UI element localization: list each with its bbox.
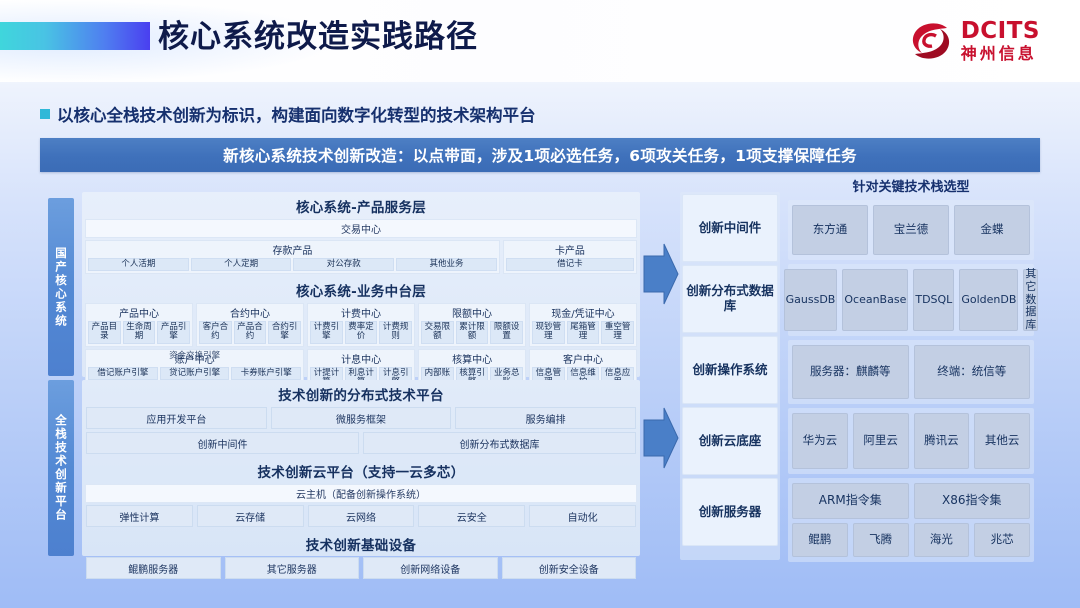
cloud-item: 弹性计算	[86, 505, 193, 527]
product-item: 对公存款	[293, 258, 394, 271]
stack-cloud-group: 华为云 阿里云 腾讯云 其他云	[788, 408, 1034, 474]
product-item: 借记卡	[506, 258, 634, 271]
center-item: 合约引擎	[268, 321, 301, 343]
vendor-item[interactable]: 东方通	[792, 205, 868, 255]
cloud-item: 云网络	[308, 505, 415, 527]
platform-item: 创新中间件	[86, 432, 359, 454]
business-row-1: 产品中心 产品目录 生命周期 产品引擎 合约中心 客户合约 产品合约 合约引擎	[82, 303, 640, 348]
core-system-panel: 核心系统-产品服务层 交易中心 存款产品 个人活期 个人定期 对公存款 其他业务…	[82, 192, 640, 377]
cloud-platform-title: 技术创新云平台（支持一云多芯）	[82, 457, 640, 484]
chip-item[interactable]: 鲲鹏	[792, 523, 848, 557]
product-item: 其他业务	[396, 258, 497, 271]
chip-row: 鲲鹏 飞腾 海光 兆芯	[792, 523, 1030, 557]
chip-item[interactable]: 飞腾	[853, 523, 909, 557]
dcits-logo: DCITS 神州信息	[909, 18, 1040, 64]
cloud-item: 云存储	[197, 505, 304, 527]
vendor-item[interactable]: GoldenDB	[959, 269, 1018, 331]
stack-database-group: GaussDB OceanBase TDSQL GoldenDB 其它数据库	[788, 264, 1034, 336]
vendor-item[interactable]: 其他云	[974, 413, 1030, 469]
slide-header: 核心系统改造实践路径 DCITS 神州信息	[0, 0, 1080, 82]
center-item: 重空管理	[601, 321, 634, 343]
distributed-row-1: 应用开发平台 微服务框架 服务编排	[82, 407, 640, 432]
group-title: 卡产品	[504, 241, 636, 258]
vendor-item[interactable]: 宝兰德	[873, 205, 949, 255]
center-item: 计费引擎	[310, 321, 343, 343]
product-group-deposit: 存款产品 个人活期 个人定期 对公存款 其他业务	[85, 240, 500, 274]
center-title: 合约中心	[197, 304, 303, 321]
center-title: 产品中心	[86, 304, 192, 321]
tech-stack-column: 针对关键技术栈选型 东方通 宝兰德 金蝶 GaussDB OceanBase T…	[788, 176, 1034, 556]
isa-row: ARM指令集 X86指令集	[792, 483, 1030, 519]
platform-item: 服务编排	[455, 407, 636, 429]
product-groups-row: 存款产品 个人活期 个人定期 对公存款 其他业务 卡产品 借记卡	[82, 240, 640, 276]
arrow-right-icon-bottom	[642, 406, 680, 470]
infra-item: 创新网络设备	[363, 557, 498, 579]
infra-item: 创新安全设备	[502, 557, 637, 579]
center-title: 限额中心	[419, 304, 525, 321]
center-item: 计费规则	[379, 321, 412, 343]
platform-item: 创新分布式数据库	[363, 432, 636, 454]
center-cash-voucher: 现金/凭证中心 现钞管理 尾箱管理 重空管理	[529, 303, 637, 346]
vendor-item[interactable]: 华为云	[792, 413, 848, 469]
bullet-text: 以核心全栈技术创新为标识，构建面向数字化转型的技术架构平台	[57, 102, 536, 126]
vendor-item[interactable]: GaussDB	[784, 269, 838, 331]
vendor-item[interactable]: 腾讯云	[914, 413, 970, 469]
center-contract: 合约中心 客户合约 产品合约 合约引擎	[196, 303, 304, 346]
target-os[interactable]: 创新操作系统	[682, 336, 778, 404]
center-item: 交易限额	[421, 321, 454, 343]
center-item: 尾箱管理	[567, 321, 600, 343]
trade-center-strip: 交易中心	[85, 219, 637, 238]
center-item: 卡券账户引擎	[231, 367, 301, 380]
group-items: 个人活期 个人定期 对公存款 其他业务	[86, 258, 499, 273]
center-items: 产品目录 生命周期 产品引擎	[86, 321, 192, 345]
target-cloud-base[interactable]: 创新云底座	[682, 407, 778, 475]
product-layer-title: 核心系统-产品服务层	[82, 192, 640, 219]
center-items: 现钞管理 尾箱管理 重空管理	[530, 321, 636, 345]
center-item: 现钞管理	[532, 321, 565, 343]
center-title: 计费中心	[308, 304, 414, 321]
product-group-card: 卡产品 借记卡	[503, 240, 637, 274]
chip-item[interactable]: 海光	[914, 523, 970, 557]
center-limit: 限额中心 交易限额 累计限额 限额设置	[418, 303, 526, 346]
target-distributed-db[interactable]: 创新分布式数据库	[682, 265, 778, 333]
center-item: 限额设置	[490, 321, 523, 343]
vendor-item[interactable]: TDSQL	[913, 269, 954, 331]
infra-item: 其它服务器	[225, 557, 360, 579]
platform-item: 应用开发平台	[86, 407, 267, 429]
logo-cn: 神州信息	[961, 46, 1040, 62]
center-item: 累计限额	[456, 321, 489, 343]
center-item: 产品合约	[234, 321, 267, 343]
stack-server-group: ARM指令集 X86指令集 鲲鹏 飞腾 海光 兆芯	[788, 478, 1034, 562]
tech-stack-title: 针对关键技术栈选型	[788, 176, 1034, 195]
slide-root: 核心系统改造实践路径 DCITS 神州信息 以核心全栈技术创新为标识，构建面向数…	[0, 0, 1080, 608]
tech-platform-panel: 技术创新的分布式技术平台 应用开发平台 微服务框架 服务编排 创新中间件 创新分…	[82, 380, 640, 556]
platform-item: 微服务框架	[271, 407, 452, 429]
center-item: 借记账户引擎	[88, 367, 158, 380]
innovation-targets-column: 创新中间件 创新分布式数据库 创新操作系统 创新云底座 创新服务器	[680, 192, 780, 560]
infra-item: 鲲鹏服务器	[86, 557, 221, 579]
product-item: 个人定期	[191, 258, 292, 271]
banner-text: 新核心系统技术创新改造：以点带面，涉及1项必选任务，6项攻关任务，1项支撑保障任…	[223, 144, 857, 166]
center-product: 产品中心 产品目录 生命周期 产品引擎	[85, 303, 193, 346]
chip-item[interactable]: 兆芯	[974, 523, 1030, 557]
logo-en: DCITS	[961, 20, 1040, 43]
distributed-row-2: 创新中间件 创新分布式数据库	[82, 432, 640, 457]
center-item: 产品目录	[88, 321, 121, 343]
infra-items-row: 鲲鹏服务器 其它服务器 创新网络设备 创新安全设备	[82, 557, 640, 582]
product-item: 个人活期	[88, 258, 189, 271]
vendor-item[interactable]: 终端：统信等	[914, 345, 1031, 399]
center-item: 贷记账户引擎	[160, 367, 230, 380]
center-item: 产品引擎	[157, 321, 190, 343]
cloud-item: 云安全	[418, 505, 525, 527]
distributed-platform-title: 技术创新的分布式技术平台	[82, 380, 640, 407]
business-layer-title: 核心系统-业务中台层	[82, 276, 640, 303]
section-bullet: 以核心全栈技术创新为标识，构建面向数字化转型的技术架构平台	[40, 102, 536, 126]
vendor-item[interactable]: 金蝶	[954, 205, 1030, 255]
center-items: 交易限额 累计限额 限额设置	[419, 321, 525, 345]
center-item-overlap: 资金交换引擎	[169, 349, 220, 361]
vendor-item[interactable]: 阿里云	[853, 413, 909, 469]
sidebar-tab-tech-platform: 全栈技术创新平台	[48, 380, 74, 556]
architecture-left: 国产核心系统 全栈技术创新平台 核心系统-产品服务层 交易中心 存款产品 个人活…	[48, 188, 640, 560]
cloud-item: 自动化	[529, 505, 636, 527]
sidebar-tab-core-system: 国产核心系统	[48, 198, 74, 376]
infra-title: 技术创新基础设备	[82, 530, 640, 557]
center-billing: 计费中心 计费引擎 费率定价 计费规则	[307, 303, 415, 346]
center-item: 费率定价	[345, 321, 378, 343]
isa-item[interactable]: ARM指令集	[792, 483, 909, 519]
center-title: 核算中心	[419, 350, 525, 367]
logo-text: DCITS 神州信息	[961, 20, 1040, 62]
center-item: 生命周期	[123, 321, 156, 343]
isa-item[interactable]: X86指令集	[914, 483, 1031, 519]
vendor-item[interactable]: OceanBase	[842, 269, 908, 331]
page-title: 核心系统改造实践路径	[158, 16, 478, 58]
center-title: 计息中心	[308, 350, 414, 367]
header-accent-bar	[0, 22, 150, 50]
target-server[interactable]: 创新服务器	[682, 478, 778, 546]
center-item: 客户合约	[199, 321, 232, 343]
group-items: 借记卡	[504, 258, 636, 273]
vendor-item[interactable]: 服务器：麒麟等	[792, 345, 909, 399]
center-items: 客户合约 产品合约 合约引擎	[197, 321, 303, 345]
group-title: 存款产品	[86, 241, 499, 258]
vendor-item[interactable]: 其它数据库	[1023, 269, 1038, 331]
stack-middleware-group: 东方通 宝兰德 金蝶	[788, 200, 1034, 260]
architecture-diagram: 国产核心系统 全栈技术创新平台 核心系统-产品服务层 交易中心 存款产品 个人活…	[48, 188, 1034, 560]
cloud-host-strip: 云主机（配备创新操作系统）	[85, 484, 637, 503]
dcits-swoosh-icon	[909, 20, 953, 62]
bullet-square-icon	[40, 109, 50, 119]
cloud-items-row: 弹性计算 云存储 云网络 云安全 自动化	[82, 505, 640, 530]
highlight-banner: 新核心系统技术创新改造：以点带面，涉及1项必选任务，6项攻关任务，1项支撑保障任…	[40, 138, 1040, 172]
center-items: 计费引擎 费率定价 计费规则	[308, 321, 414, 345]
stack-os-group: 服务器：麒麟等 终端：统信等	[788, 340, 1034, 404]
arrow-right-icon-top	[642, 242, 680, 306]
center-title: 现金/凭证中心	[530, 304, 636, 321]
center-title: 客户中心	[530, 350, 636, 367]
target-middleware[interactable]: 创新中间件	[682, 194, 778, 262]
